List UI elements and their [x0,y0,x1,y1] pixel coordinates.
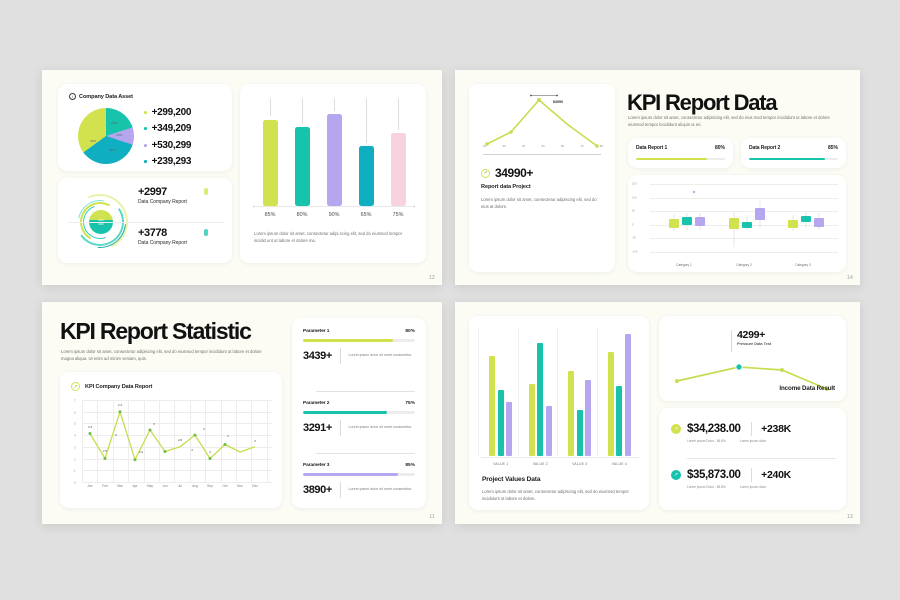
bar [616,386,622,456]
monthly-line-chart: 7 6 5 4 3 2 1 0 [82,400,272,482]
asset-card-header: i Company Data Asset [69,93,133,100]
slide-kpi-report-statistic[interactable]: KPI Report Statistic Lorem ipsum dolor s… [42,302,442,524]
income-chart-card: 4299+ Pressure Data Test Income Data Res… [659,316,846,401]
point-label: 2.8 [178,438,182,442]
y-tick: 1 [74,469,76,473]
x-tick: 30 [502,144,505,148]
bar [359,146,374,206]
x-tick: Aug [192,484,198,488]
income-number: 4299+ [737,329,765,341]
company-data-asset-card: i Company Data Asset 20% 10% 35% 35% +29… [58,84,232,171]
bookmark-icon [204,229,208,236]
parameter-value-row: 3291+ Lorem ipsum dolor sit omet consect… [303,420,415,436]
bar [585,380,591,456]
page-number: 11 [429,514,435,520]
percentage-bar-chart-card: 85% 80% 90% 65% 75% Lorem ipsum dolor si… [240,84,426,263]
legend-swatch-icon [144,111,147,114]
point-label: 4 [209,450,211,454]
legend-swatch-icon [144,127,147,130]
data-report-percent: 85% [828,145,838,151]
page-description: Lorem ipsum dolor sit amet, consectetur … [61,348,271,363]
parameter-value-row: 3890+ Lorem ipsum dolor sit omet consect… [303,482,415,498]
parameters-card: Parameter 1 80% 3439+ Lorem ipsum dolor … [292,318,426,508]
boxplot-card: 150 100 50 0 -50 -100 [628,175,846,272]
divider [340,420,341,436]
divider [483,154,601,155]
arrow-up-right-icon: ↗ [671,470,681,480]
boxplot-category-label: Category 3 [773,263,833,267]
legend-item: +530,299 [144,137,191,154]
arrow-up-right-icon: ↗ [671,424,681,434]
boxplot-grid [650,184,838,252]
bar [577,410,583,456]
pie-legend: +299,200 +349,209 +530,299 +239,293 [144,104,191,170]
slide-deck: i Company Data Asset 20% 10% 35% 35% +29… [0,0,900,600]
bar-chart-axis [481,457,639,458]
data-report-1-card: Data Report 1 80% [628,138,733,168]
bar-column [295,98,310,206]
bar-group [524,328,557,456]
bar-group [563,328,596,456]
radial-block: +3778 Data Company Report [138,227,226,261]
slide-company-data-asset[interactable]: i Company Data Asset 20% 10% 35% 35% +29… [42,70,442,285]
progress-track [303,411,415,414]
x-tick: 20 [483,144,486,148]
parameter-block: Parameter 3 85% 3890+ Lorem ipsum dolor … [303,463,415,498]
point-label: 6 [115,433,117,437]
point-label: 2.5 [103,449,107,453]
divider [751,422,752,436]
money-amount: $34,238.00 [687,423,741,435]
parameter-number: 3291+ [303,422,332,434]
legend-swatch-icon [144,144,147,147]
money-subtext-right: Lorem ipsum dolor [740,439,766,443]
progress-fill [303,339,393,342]
line-chart-ticks: 20 30 40 50 60 70 80 [483,144,603,148]
bar [506,402,512,456]
y-tick: 5 [74,422,76,426]
report-number: 34990+ [495,166,533,180]
progress-track [303,339,415,342]
y-tick: 0 [74,480,76,484]
bar [529,384,535,456]
bar [327,114,342,206]
legend-value: +239,293 [152,156,192,167]
parameter-number: 3890+ [303,484,332,496]
point-label: 3 [254,439,256,443]
boxplot-series [650,184,836,252]
report-metric: ↗ 34990+ [481,166,533,180]
divider [687,458,836,459]
progress-track [749,158,838,160]
bar [295,127,310,206]
divider [340,348,341,364]
bar-column [391,98,406,206]
report-line-chart-card: $3990 20 30 40 50 60 70 80 ↗ 34990+ Repo… [469,84,615,272]
y-tick: 3 [74,445,76,449]
divider [316,453,415,454]
data-report-name: Data Report 1 [636,145,667,151]
x-tick: 50 [541,144,544,148]
project-values-card: VALUE 1 VALUE 2 VALUE 3 VALUE 4 Project … [469,316,649,510]
legend-value: +530,299 [152,140,192,151]
parameter-note: Lorem ipsum dolor sit omet consectetur. [349,486,413,492]
radial-block: +2997 Data Company Report [138,186,226,220]
slide-project-values-data[interactable]: VALUE 1 VALUE 2 VALUE 3 VALUE 4 Project … [455,302,860,524]
x-tick: Apr [133,484,138,488]
y-tick: -50 [632,237,636,240]
point-label: 3 [153,422,155,426]
x-tick: 60 [561,144,564,148]
parameter-block: Parameter 2 75% 3291+ Lorem ipsum dolor … [303,401,415,436]
bar [546,406,552,456]
bar-chart-ticks: 85% 80% 90% 65% 75% [254,212,414,218]
bar-column [263,98,278,206]
bar [391,133,406,206]
report-subtitle: Report data Project [481,184,531,190]
data-report-header: Data Report 1 80% [628,138,733,151]
parameter-value-row: 3439+ Lorem ipsum dolor sit omet consect… [303,348,415,364]
bar [608,352,614,456]
progress-fill [303,411,387,414]
bar-category-label: VALUE 4 [603,462,636,466]
parameter-name: Parameter 3 [303,463,329,468]
parameter-header: Parameter 2 75% [303,401,415,406]
legend-item: +349,209 [144,121,191,138]
radial-caption: Data Company Report [138,199,226,205]
y-tick: 4 [74,433,76,437]
page-number: 13 [847,514,853,520]
boxplot-category-label: Category 1 [654,263,714,267]
bar [498,390,504,456]
bar-group [603,328,636,456]
money-delta: +240K [761,469,791,481]
project-values-title: Project Values Data [482,476,540,483]
legend-item: +299,200 [144,104,191,121]
money-head: ↗ $35,873.00 +240K [671,468,836,482]
page-number: 14 [847,275,853,281]
arrow-up-right-icon: ↗ [71,382,80,391]
x-tick: Feb [102,484,108,488]
divider [340,482,341,498]
money-delta: +238K [761,423,791,435]
divider [316,391,415,392]
slide-kpi-report-data[interactable]: $3990 20 30 40 50 60 70 80 ↗ 34990+ Repo… [455,70,860,285]
y-tick: 7 [74,398,76,402]
bar-stem [366,98,367,143]
monthly-line-chart-card: ↗ KPI Company Data Report 7 6 5 4 3 2 1 … [60,372,282,508]
y-tick: 0 [632,223,634,226]
bar-chart-axis [253,206,415,207]
parameter-number: 3439+ [303,350,332,362]
peak-annotation: $3990 [553,100,563,104]
money-summary-card: ↗ $34,238.00 +238K Lorem ipsum Dolor - 5… [659,408,846,510]
pie-slice-label: 35% [90,139,96,143]
money-subtext-right: Lorem ipsum dolor [740,485,766,489]
boxplot-category-label: Category 2 [714,263,774,267]
grouped-bar-chart [481,328,639,456]
bar [489,356,495,456]
x-tick: Jun [162,484,167,488]
bar-chart [254,98,414,206]
parameter-block: Parameter 1 80% 3439+ Lorem ipsum dolor … [303,329,415,364]
monthly-card-title: KPI Company Data Report [85,384,152,390]
bar-chart-categories: VALUE 1 VALUE 2 VALUE 3 VALUE 4 [481,462,639,466]
pie-slice-label: 35% [109,148,115,152]
bar-category-label: VALUE 1 [484,462,517,466]
money-row: ↗ $35,873.00 +240K Lorem ipsum Dolor - 5… [671,468,836,489]
bar [568,371,574,456]
y-tick: 2 [74,457,76,461]
page-title: KPI Report Statistic [60,318,251,345]
x-tick: Sep [207,484,213,488]
monthly-card-header: ↗ KPI Company Data Report [71,382,152,391]
parameter-percent: 75% [405,401,415,406]
parameter-note: Lorem ipsum dolor sit omet consectetur. [349,352,413,358]
point-label: 4 [191,448,193,452]
page-title: KPI Report Data [627,90,776,116]
progress-fill [636,158,707,160]
progress-track [303,473,415,476]
money-row: ↗ $34,238.00 +238K Lorem ipsum Dolor - 5… [671,422,836,443]
x-tick: Nov [237,484,243,488]
legend-value: +299,200 [152,107,192,118]
money-subtext-left: Lorem ipsum Dolor - 56.8% [687,439,726,443]
x-tick: 70 [580,144,583,148]
asset-card-title: Company Data Asset [79,94,133,100]
legend-item: +239,293 [144,154,191,171]
x-tick: Oct [223,484,228,488]
bar-column [359,98,374,206]
parameter-header: Parameter 1 80% [303,329,415,334]
parameter-note: Lorem ipsum dolor sit omet consectetur. [349,424,413,430]
point-label: 4.3 [88,425,92,429]
bar-tick-label: 90% [327,212,342,218]
bar [263,120,278,206]
point-label: 2.4 [118,403,122,407]
gridline [650,252,838,253]
bar-column [327,98,342,206]
bar-tick-label: 65% [359,212,374,218]
parameter-name: Parameter 2 [303,401,329,406]
divider [68,222,224,223]
radial-caption: Data Company Report [138,240,226,246]
data-report-2-card: Data Report 2 85% [741,138,846,168]
radial-report-card: 23% 43% +2997 Data Company Report +3778 … [58,178,232,263]
project-values-note: Lorem ipsum dolor sit amet, consectetur … [482,488,637,503]
x-tick: 40 [522,144,525,148]
data-report-name: Data Report 2 [749,145,780,151]
income-result-label: Income Data Result [779,385,835,392]
radial-core-bottom-label: 43% [98,222,104,226]
y-tick: 50 [632,210,635,213]
parameter-name: Parameter 1 [303,329,329,334]
bookmark-icon [204,188,208,195]
y-tick: -100 [632,251,637,254]
bar-tick-label: 75% [391,212,406,218]
bar [625,334,631,456]
bar-stem [334,98,335,111]
y-tick: 150 [632,183,636,186]
legend-swatch-icon [144,160,147,163]
parameter-percent: 85% [405,463,415,468]
arrow-up-right-icon: ↗ [481,169,490,178]
bar-stem [398,98,399,130]
divider [751,468,752,482]
legend-value: +349,209 [152,123,192,134]
point-label: 2 [227,434,229,438]
page-description: Lorem ipsum dolor sit amet, consectetur … [628,114,846,129]
progress-fill [303,473,398,476]
y-tick: 6 [74,410,76,414]
pie-chart: 20% 10% 35% 35% [78,108,134,164]
pie-slice-label: 10% [116,133,122,137]
point-label: 2 [203,427,205,431]
data-report-header: Data Report 2 85% [741,138,846,151]
progress-track [636,158,725,160]
money-subtext-row: Lorem ipsum Dolor - 56.8% Lorem ipsum do… [687,439,836,443]
bar-category-label: VALUE 3 [563,462,596,466]
bar-tick-label: 85% [263,212,278,218]
money-subtext-row: Lorem ipsum Dolor - 56.8% Lorem ipsum do… [687,485,836,489]
bar-tick-label: 80% [295,212,310,218]
x-tick: Jan [87,484,92,488]
radial-number: +2997 [138,186,226,198]
parameter-percent: 80% [405,329,415,334]
x-tick: Jul [178,484,182,488]
progress-fill [749,158,825,160]
bar-group [484,328,517,456]
bar [537,343,543,456]
money-head: ↗ $34,238.00 +238K [671,422,836,436]
report-note: Lorem ipsum dolor sit amet, consectetur … [481,196,603,211]
bar-stem [302,98,303,124]
y-tick: 100 [632,196,636,199]
radial-number: +3778 [138,227,226,239]
info-icon: i [69,93,76,100]
point-label: 4.4 [139,450,143,454]
bar-category-label: VALUE 2 [524,462,557,466]
page-number: 12 [429,275,435,281]
income-subtitle: Pressure Data Test [737,342,771,346]
bar-stem [270,98,271,116]
money-subtext-left: Lorem ipsum Dolor - 56.8% [687,485,726,489]
x-tick: May [147,484,153,488]
pie-slice-label: 20% [111,121,117,125]
parameter-header: Parameter 3 85% [303,463,415,468]
x-tick: 80 [600,144,603,148]
money-amount: $35,873.00 [687,469,741,481]
data-report-percent: 80% [715,145,725,151]
radial-values: +2997 Data Company Report +3778 Data Com… [138,186,226,261]
x-tick: Dec [252,484,258,488]
x-tick: Mar [117,484,123,488]
bar-chart-note: Lorem ipsum dolor sit amet, consectetur … [254,230,414,245]
